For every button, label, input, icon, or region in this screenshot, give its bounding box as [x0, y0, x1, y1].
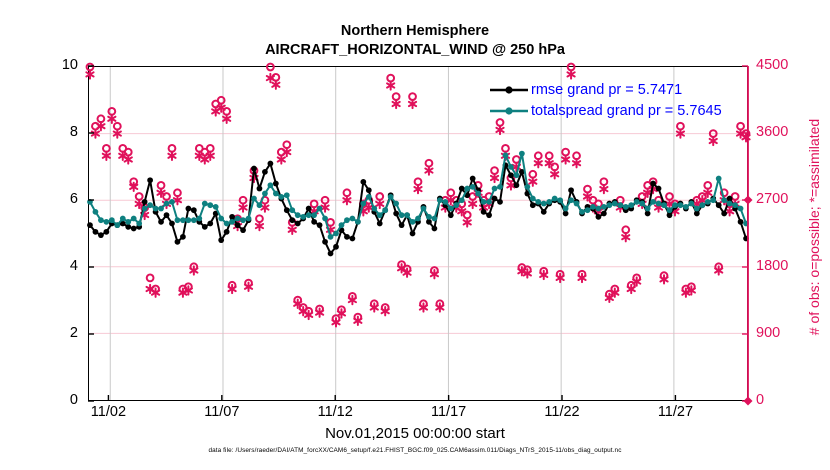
y-tick-left-2: 2 — [38, 325, 78, 341]
legend-label-totalspread: totalspread grand pr = 5.7645 — [531, 103, 722, 119]
y-tick-left-6: 6 — [38, 191, 78, 207]
legend-item-totalspread[interactable]: totalspread grand pr = 5.7645 — [489, 100, 722, 121]
x-tick-11-12: 11/12 — [300, 404, 370, 420]
y-tick-right-4500: 4500 — [756, 57, 804, 73]
data-file-footer: data file: /Users/raeder/DAI/ATM_forcXX/… — [0, 447, 830, 454]
legend-item-rmse[interactable]: rmse grand pr = 5.7471 — [489, 79, 722, 100]
x-axis-label: Nov.01,2015 00:00:00 start — [0, 425, 830, 442]
y-tick-right-900: 900 — [756, 325, 804, 341]
legend-line-marker-rmse — [489, 83, 529, 97]
x-tick-11-17: 11/17 — [414, 404, 484, 420]
chart-subtitle: AIRCRAFT_HORIZONTAL_WIND @ 250 hPa — [0, 41, 830, 60]
legend-line-marker-totalspread — [489, 104, 529, 118]
page-title: Northern Hemisphere — [0, 22, 830, 41]
x-tick-11-22: 11/22 — [527, 404, 597, 420]
y-tick-right-0: 0 — [756, 392, 804, 408]
y-tick-left-4: 4 — [38, 258, 78, 274]
chart-page: Northern Hemisphere AIRCRAFT_HORIZONTAL_… — [0, 0, 830, 470]
y-tick-right-2700: 2700 — [756, 191, 804, 207]
y-tick-left-0: 0 — [38, 392, 78, 408]
chart-legend: rmse grand pr = 5.7471 totalspread grand… — [489, 79, 722, 121]
x-tick-11-27: 11/27 — [640, 404, 710, 420]
legend-label-rmse: rmse grand pr = 5.7471 — [531, 82, 682, 98]
y-tick-right-1800: 1800 — [756, 258, 804, 274]
y-tick-left-8: 8 — [38, 124, 78, 140]
y-tick-right-3600: 3600 — [756, 124, 804, 140]
chart-title-block: Northern Hemisphere AIRCRAFT_HORIZONTAL_… — [0, 22, 830, 60]
x-tick-11-07: 11/07 — [187, 404, 257, 420]
y-axis-label-right: # of obs: o=possible; *=assimilated — [806, 62, 822, 392]
x-tick-11-02: 11/02 — [73, 404, 143, 420]
y-tick-left-10: 10 — [38, 57, 78, 73]
